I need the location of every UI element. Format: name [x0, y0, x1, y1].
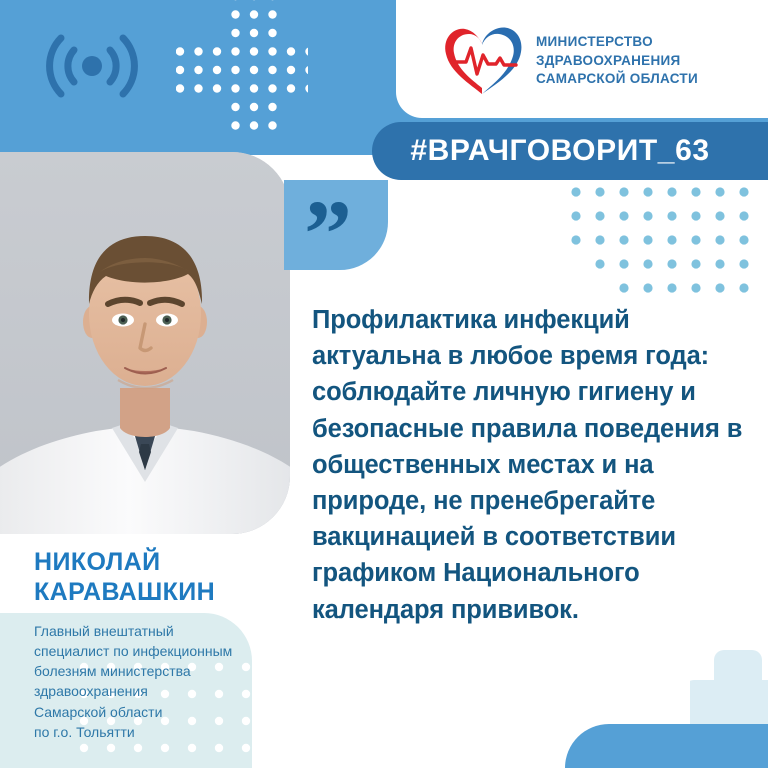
ministry-logo-text: Министерство здравоохранения Самарской о… [536, 33, 698, 88]
speaker-credentials: Главный внештатный специалист по инфекци… [34, 621, 252, 742]
quote-mark-glyph: ” [304, 186, 352, 282]
ministry-logo: Министерство здравоохранения Самарской о… [440, 24, 698, 98]
poster-canvas: Министерство здравоохранения Самарской о… [0, 0, 768, 768]
hashtag-label: #ВРАЧГОВОРИТ_63 [410, 134, 709, 168]
quote-text: Профилактика инфекций актуальна в любое … [312, 302, 756, 628]
credentials-panel: Главный внештатный специалист по инфекци… [0, 613, 252, 768]
heart-ecg-logo [440, 24, 524, 98]
dotted-cross-pattern [176, 0, 308, 132]
speaker-name: НИКОЛАЙ КАРАВАШКИН [34, 548, 286, 607]
doctor-portrait [0, 152, 290, 534]
speaker-name-block: НИКОЛАЙ КАРАВАШКИН [34, 548, 286, 607]
broadcast-waves-icon [38, 24, 146, 108]
quote-mark-block: ” [284, 180, 388, 270]
rounded-footer-bar [565, 724, 768, 768]
dot-grid-pattern-right [570, 186, 768, 310]
hashtag-banner: #ВРАЧГОВОРИТ_63 [372, 122, 768, 180]
